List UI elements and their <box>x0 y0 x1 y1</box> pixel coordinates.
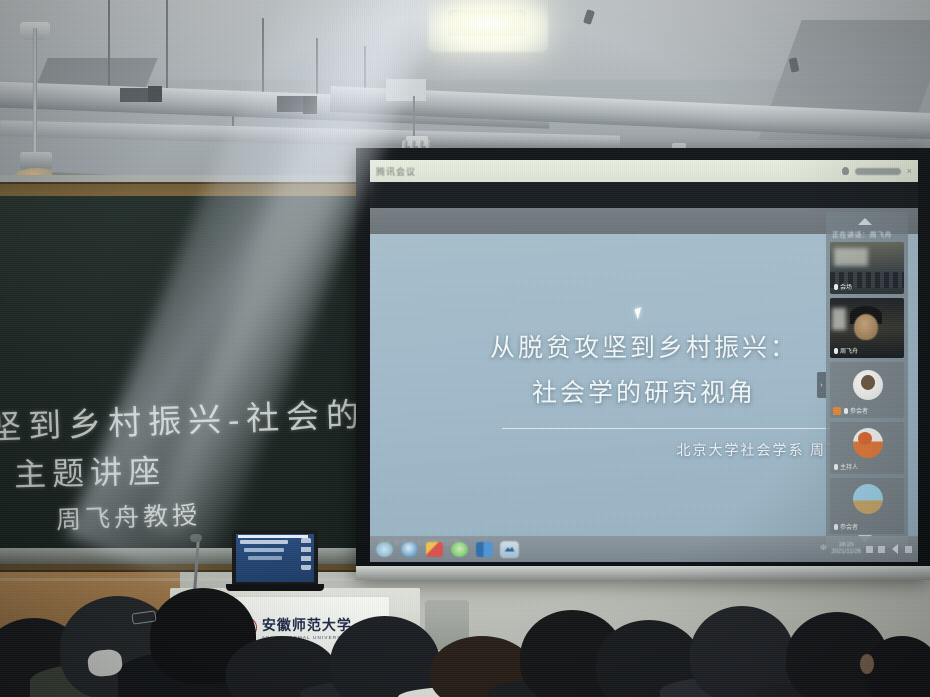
battery-icon[interactable] <box>905 546 912 553</box>
clock-time: 16:25 <box>839 542 854 548</box>
tile-highlight <box>834 248 868 266</box>
monitor-content-line <box>240 540 288 544</box>
participant-name: 周飞舟 <box>840 346 858 355</box>
status-badge <box>833 407 841 415</box>
show-hidden-icons-icon[interactable] <box>892 544 898 554</box>
microphone-icon <box>190 534 202 542</box>
projection-screen: 腾讯会议 × 从脱贫攻坚到乡村振兴： 社会学的研究视角 北京大学社会学系 周飞舟… <box>370 160 918 562</box>
participant-tile[interactable]: 主持人 <box>830 422 904 474</box>
audience-ear <box>860 654 874 674</box>
mic-icon <box>834 284 838 290</box>
input-method-indicator[interactable]: 中 <box>820 546 826 553</box>
lecture-hall-photo: 坚到乡村振兴-社会的研究 主题讲座 周飞舟教授 腾讯会议 × 从脱贫攻坚到乡村振… <box>0 0 930 697</box>
window-controls: × <box>842 166 912 176</box>
tile-highlight <box>832 308 846 330</box>
participants-icon[interactable] <box>842 167 849 175</box>
slide-divider <box>502 428 832 429</box>
avatar <box>853 428 883 458</box>
active-speaker-label: 正在讲话：周飞舟 <box>832 230 892 240</box>
participant-sidebar[interactable]: › 正在讲话：周飞舟 会场 周飞 <box>826 212 908 548</box>
ceiling-fan-rod <box>33 28 37 160</box>
screen-bottom-rail <box>356 566 930 580</box>
participant-label: 参会者 <box>844 406 868 415</box>
browser-icon[interactable] <box>376 542 393 557</box>
shared-desktop: 从脱贫攻坚到乡村振兴： 社会学的研究视角 北京大学社会学系 周飞舟 › 正在讲话… <box>370 182 918 562</box>
participant-tile[interactable]: 会场 <box>830 242 904 294</box>
hanger-rod <box>108 0 110 92</box>
avatar-face <box>861 375 875 390</box>
volume-icon[interactable] <box>878 546 885 553</box>
close-icon[interactable]: × <box>907 166 912 176</box>
mouse-cursor-icon <box>634 307 644 320</box>
mic-icon <box>834 524 838 530</box>
participant-tile[interactable]: 周飞舟 <box>830 298 904 358</box>
meeting-app-icon[interactable] <box>501 542 518 557</box>
window-title: 腾讯会议 <box>376 165 416 178</box>
monitor-screen <box>236 534 314 582</box>
participant-name: 主持人 <box>840 462 858 471</box>
mic-icon <box>834 464 838 470</box>
beam-bracket <box>303 96 317 114</box>
internet-explorer-icon[interactable] <box>401 542 418 557</box>
clock-date: 2021/11/26 <box>831 549 861 555</box>
wechat-icon[interactable] <box>451 542 468 557</box>
apps-icon[interactable] <box>476 542 493 557</box>
monitor-sidebar-tiles <box>301 538 311 570</box>
meeting-info-pill[interactable] <box>855 168 901 175</box>
fluorescent-light <box>448 10 526 36</box>
chalk-text-line-2: 主题讲座 <box>13 446 166 496</box>
window-titlebar: 腾讯会议 × <box>370 160 918 182</box>
system-tray[interactable]: 中 16:25 2021/11/26 <box>820 542 912 555</box>
participant-label: 参会者 <box>834 522 858 531</box>
participant-label: 周飞舟 <box>834 346 858 355</box>
participant-name: 参会者 <box>840 522 858 531</box>
avatar <box>853 484 883 514</box>
monitor-base <box>226 584 324 591</box>
mic-icon <box>844 408 848 414</box>
network-icon[interactable] <box>866 546 873 553</box>
clock[interactable]: 16:25 2021/11/26 <box>831 542 861 555</box>
chalk-text-line-3: 周飞舟教授 <box>55 495 201 536</box>
university-name-cn: 安徽师范大学 <box>262 615 352 635</box>
participant-name: 参会者 <box>850 406 868 415</box>
scroll-up-arrow-icon[interactable] <box>858 218 872 225</box>
folder-icon[interactable] <box>426 542 443 557</box>
hanger-rod <box>262 18 264 100</box>
taskbar[interactable]: 中 16:25 2021/11/26 <box>370 536 918 562</box>
monitor-content-line <box>244 548 284 552</box>
sidebar-collapse-toggle[interactable]: › <box>817 372 826 398</box>
monitor-titlebar <box>238 535 308 538</box>
participant-label: 会场 <box>834 282 852 291</box>
participant-name: 会场 <box>840 282 852 291</box>
participant-tile[interactable]: 参会者 <box>830 362 904 418</box>
tile-face <box>854 314 878 340</box>
participant-label: 主持人 <box>834 462 858 471</box>
beam-bracket <box>148 86 162 102</box>
hanger-rod <box>316 38 318 100</box>
hanger-rod <box>166 0 168 96</box>
monitor-content-line <box>248 556 282 560</box>
participant-tile[interactable]: 参会者 <box>830 478 904 534</box>
confidence-monitor <box>232 530 318 586</box>
beam-bracket <box>277 96 303 112</box>
mic-icon <box>834 348 838 354</box>
beam-bracket <box>120 88 148 102</box>
beam-bracket <box>386 79 426 101</box>
